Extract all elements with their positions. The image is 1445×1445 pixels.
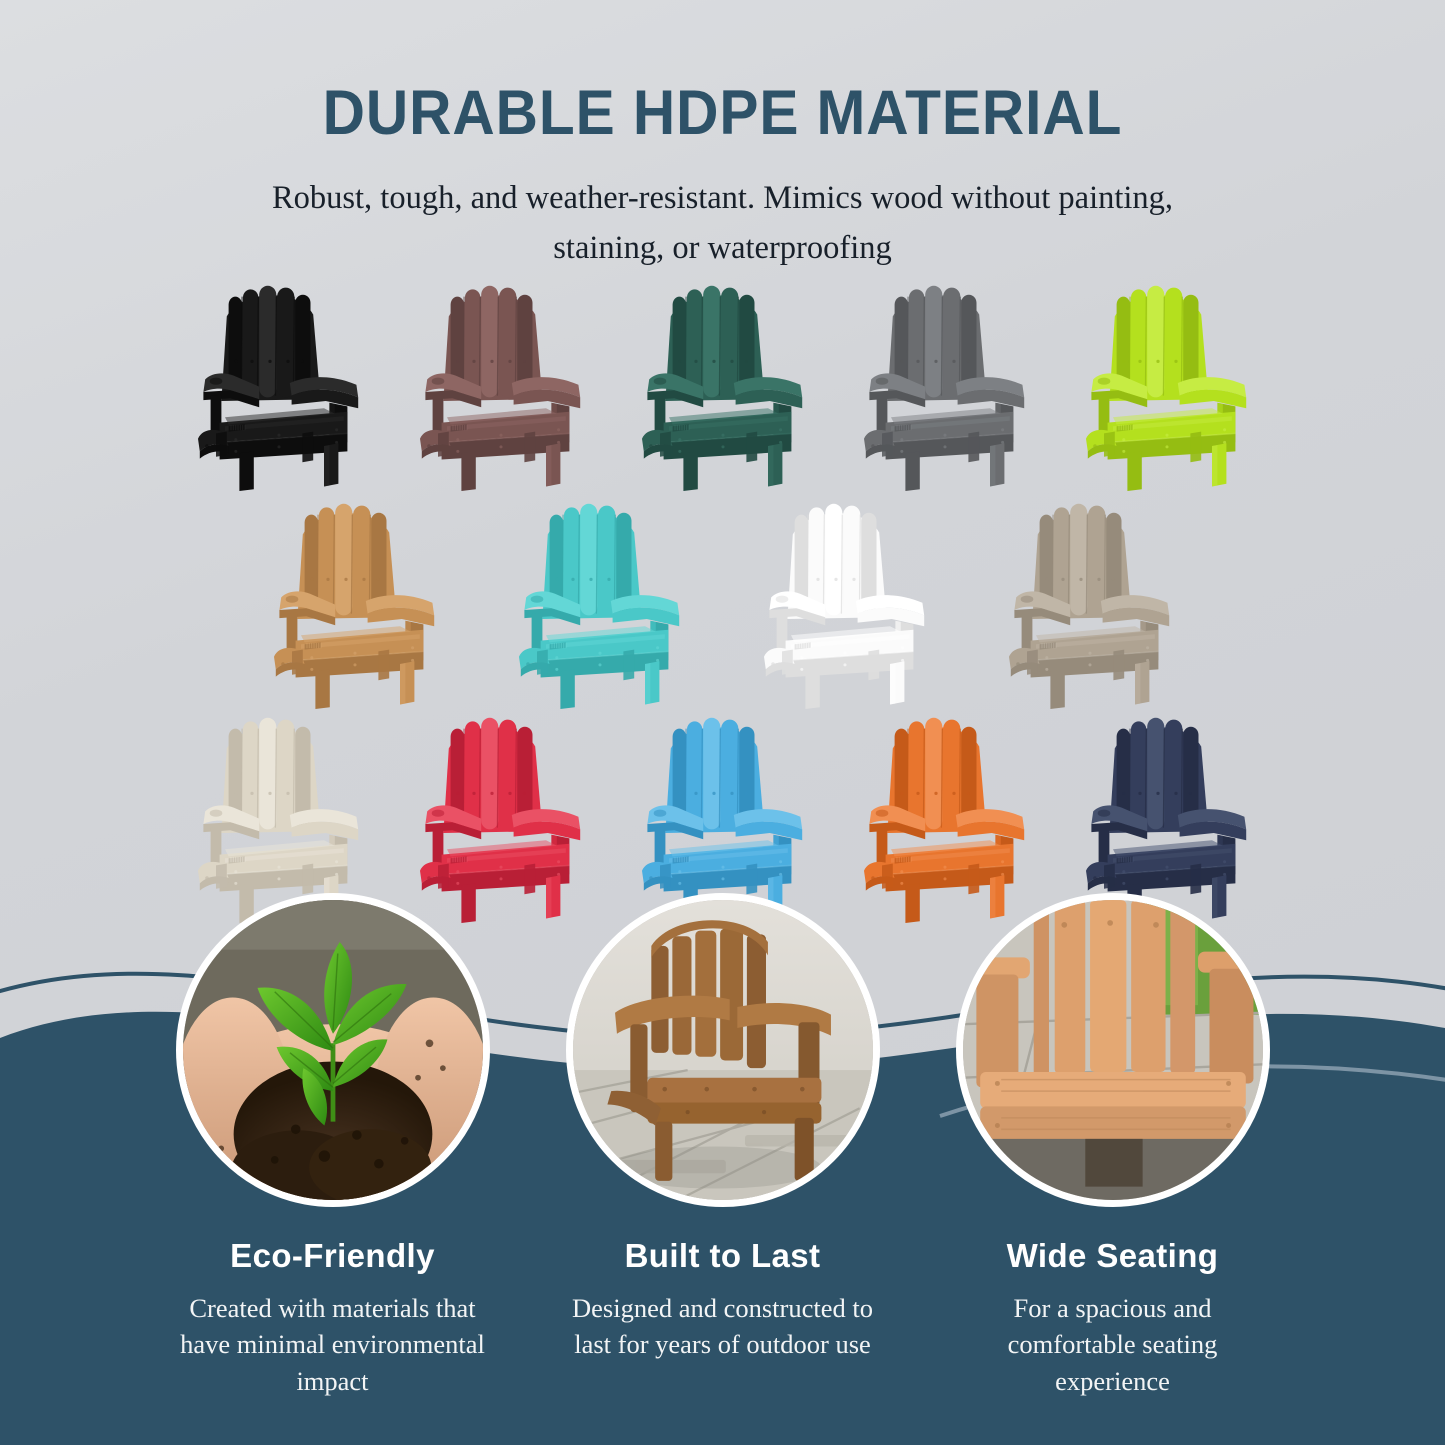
chair-swatch-dark-green[interactable] [612,268,834,498]
feature-photo-row [0,893,1445,1223]
chair-swatch-turquoise[interactable] [478,486,723,716]
feature-text-row: Eco-Friendly Created with materials that… [0,1236,1445,1399]
chair-row-2 [0,486,1445,716]
chair-swatch-white[interactable] [723,486,968,716]
chair-swatch-lime-green[interactable] [1056,268,1278,498]
brown-chair-on-patio-photo [566,893,880,1207]
feature-title: Wide Seating [948,1236,1278,1276]
page-subtitle: Robust, tough, and weather-resistant. Mi… [218,174,1228,273]
header: DURABLE HDPE MATERIAL Robust, tough, and… [0,0,1445,273]
feature-description: Designed and constructed to last for yea… [558,1290,888,1363]
chair-swatch-gray[interactable] [834,268,1056,498]
feature-block: Eco-Friendly Created with materials that… [168,1236,498,1399]
feature-photo-item [948,893,1278,1223]
chair-swatch-weathered-taupe[interactable] [968,486,1213,716]
chair-swatch-brown[interactable] [390,268,612,498]
feature-photo-item [168,893,498,1223]
chair-row-1 [0,268,1445,498]
feature-description: For a spacious and comfortable seating e… [948,1290,1278,1400]
chair-swatch-teak[interactable] [233,486,478,716]
chair-color-grid [0,268,1445,908]
feature-photo-item [558,893,888,1223]
feature-block: Built to Last Designed and constructed t… [558,1236,888,1399]
chair-swatch-black[interactable] [168,268,390,498]
feature-block: Wide Seating For a spacious and comforta… [948,1236,1278,1399]
seedling-in-hands-photo [176,893,490,1207]
page-title: DURABLE HDPE MATERIAL [51,80,1395,146]
feature-title: Built to Last [558,1236,888,1276]
wide-chair-seat-closeup-photo [956,893,1270,1207]
feature-title: Eco-Friendly [168,1236,498,1276]
feature-description: Created with materials that have minimal… [168,1290,498,1400]
